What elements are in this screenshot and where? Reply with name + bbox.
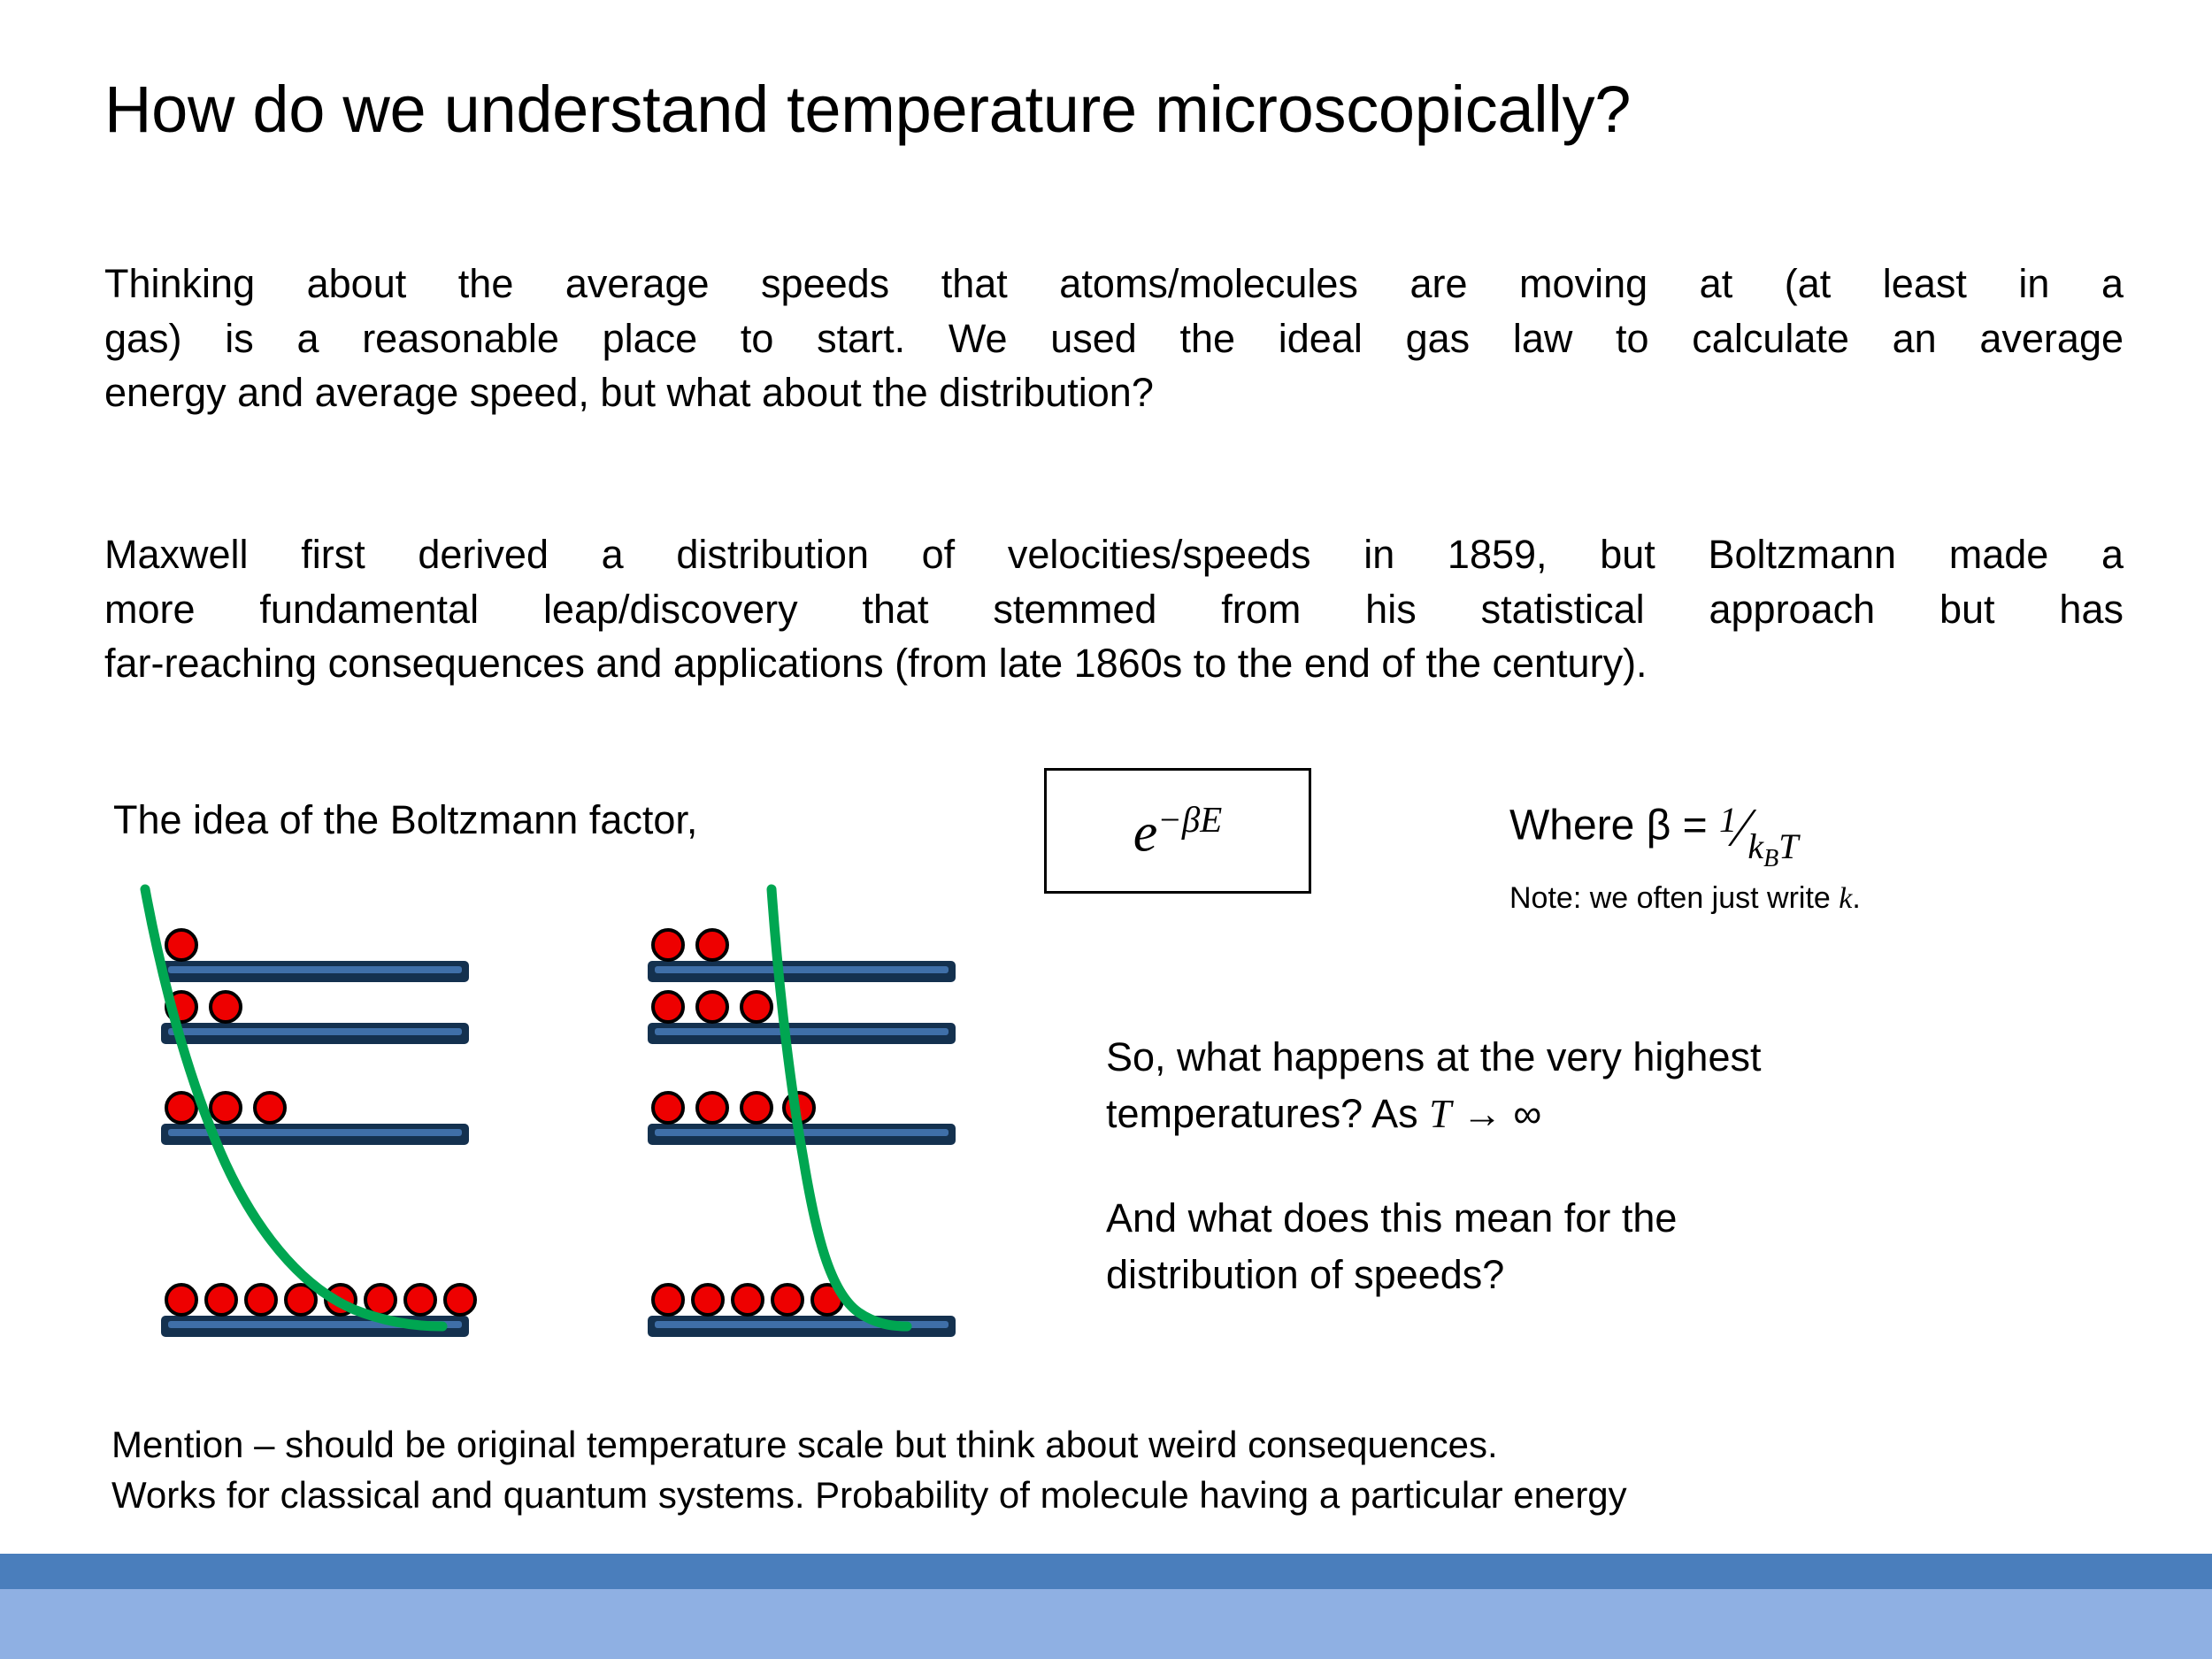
boltzmann-factor-formula: e−βE xyxy=(1133,802,1223,864)
beta-fraction-numerator: 1 xyxy=(1719,800,1737,840)
energy-level-diagram-low-temperature xyxy=(88,867,549,1380)
formula-base: e xyxy=(1133,803,1158,863)
presenter-notes-line-1: Mention – should be original temperature… xyxy=(111,1424,1498,1465)
energy-level-diagram-high-temperature xyxy=(575,867,1035,1380)
footer-bar-dark xyxy=(0,1554,2212,1589)
note-suffix: . xyxy=(1852,881,1860,915)
paragraph-maxwell-line-2: more fundamental leap/discovery that ste… xyxy=(104,582,2124,637)
question-2-line-2: distribution of speeds? xyxy=(1106,1252,1504,1297)
beta-fraction: 1⁄kBT xyxy=(1719,801,1798,856)
question-distribution-of-speeds: And what does this mean for the distribu… xyxy=(1106,1190,2079,1303)
presenter-notes: Mention – should be original temperature… xyxy=(111,1419,2058,1520)
slide-canvas: How do we understand temperature microsc… xyxy=(0,0,2212,1659)
paragraph-intro: Thinking about the average speeds that a… xyxy=(104,257,2124,420)
note-prefix: Note: we often just write xyxy=(1509,881,1839,915)
footer-bar-light xyxy=(0,1589,2212,1659)
energy-level-bar-top xyxy=(161,961,469,982)
boltzmann-factor-formula-box: e−βE xyxy=(1044,768,1311,894)
particle-group-ground xyxy=(653,1285,842,1315)
question-1-line-2-suffix: → ∞ xyxy=(1451,1091,1541,1136)
question-2-line-1: And what does this mean for the xyxy=(1106,1195,1677,1240)
question-1-symbol-T: T xyxy=(1429,1092,1451,1136)
energy-level-bar-top xyxy=(648,961,956,982)
question-highest-temperatures: So, what happens at the very highest tem… xyxy=(1106,1029,2079,1143)
note-boltzmann-constant: Note: we often just write k. xyxy=(1509,883,1861,914)
particle-group-third xyxy=(653,992,772,1022)
energy-level-bar-third xyxy=(161,1023,469,1044)
beta-denominator-k: k xyxy=(1747,826,1763,866)
formula-exponent: −βE xyxy=(1157,800,1222,840)
energy-level-bar-third xyxy=(648,1023,956,1044)
beta-fraction-slash: ⁄ xyxy=(1737,798,1747,858)
beta-denominator-subscript: B xyxy=(1763,845,1778,872)
paragraph-maxwell: Maxwell first derived a distribution of … xyxy=(104,527,2124,691)
question-1-line-1: So, what happens at the very highest xyxy=(1106,1034,1761,1079)
beta-definition-prefix: Where β = xyxy=(1509,803,1719,849)
page-title: How do we understand temperature microsc… xyxy=(104,75,2122,144)
question-1-line-2-prefix: temperatures? As xyxy=(1106,1091,1429,1136)
presenter-notes-line-2: Works for classical and quantum systems.… xyxy=(111,1474,1627,1516)
beta-definition: Where β = 1⁄kBT xyxy=(1509,801,1799,856)
paragraph-intro-line-1: Thinking about the average speeds that a… xyxy=(104,257,2124,311)
paragraph-maxwell-line-3: far-reaching consequences and applicatio… xyxy=(104,636,2124,691)
beta-denominator-T: T xyxy=(1778,826,1798,866)
boltzmann-decay-curve xyxy=(772,889,907,1326)
boltzmann-factor-caption: The idea of the Boltzmann factor, xyxy=(113,796,697,844)
particle-group-top xyxy=(166,930,196,960)
paragraph-intro-line-2: gas) is a reasonable place to start. We … xyxy=(104,311,2124,366)
paragraph-intro-line-3: energy and average speed, but what about… xyxy=(104,365,2124,420)
particle-group-second xyxy=(166,1093,285,1123)
beta-fraction-denominator: kBT xyxy=(1747,826,1798,866)
note-symbol-k: k xyxy=(1839,882,1852,915)
particle-group-top xyxy=(653,930,727,960)
paragraph-maxwell-line-1: Maxwell first derived a distribution of … xyxy=(104,527,2124,582)
